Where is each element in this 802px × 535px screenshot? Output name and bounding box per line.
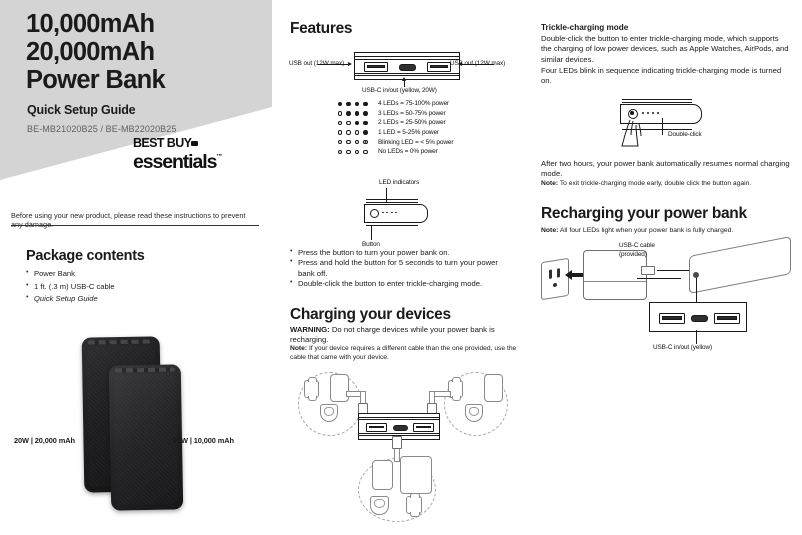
led-row bbox=[382, 212, 397, 214]
shell-line bbox=[622, 99, 692, 100]
strip-rail bbox=[359, 433, 439, 434]
usb-a-port-left bbox=[364, 62, 388, 72]
note-label: Note: bbox=[541, 180, 558, 187]
led-legend: 4 LEDs = 75-100% power 3 LEDs = 50-75% p… bbox=[338, 99, 453, 157]
arrow-left-icon bbox=[565, 270, 572, 280]
trademark-symbol: ™ bbox=[216, 154, 221, 160]
recharging-heading: Recharging your power bank bbox=[541, 205, 747, 223]
list-item: Quick Setup Guide bbox=[26, 293, 226, 305]
usb-c-plug-icon bbox=[392, 436, 402, 449]
warning-label: WARNING: bbox=[290, 325, 330, 334]
list-item: Double-click the button to enter trickle… bbox=[290, 279, 514, 289]
surface-texture bbox=[114, 373, 178, 504]
led-dots bbox=[338, 111, 378, 115]
strip-rail bbox=[355, 56, 459, 57]
outlet-slot bbox=[549, 269, 552, 278]
usb-c-plug-icon bbox=[641, 266, 655, 275]
features-heading: Features bbox=[290, 20, 352, 38]
trickle-paragraph-2: Four LEDs blink in sequence indicating t… bbox=[541, 66, 791, 87]
trickle-charging-heading: Trickle-charging mode bbox=[541, 23, 628, 32]
led-legend-text: 1 LED = 5-25% power bbox=[378, 129, 439, 136]
list-item: Press and hold the button for 5 seconds … bbox=[290, 258, 514, 279]
phone-device-icon bbox=[484, 374, 503, 402]
charging-devices-heading: Charging your devices bbox=[290, 306, 451, 324]
leader-line-port-label bbox=[696, 330, 697, 344]
led-legend-row: 3 LEDs = 50-75% power bbox=[338, 109, 453, 119]
led-dots bbox=[338, 130, 378, 134]
cable-wire bbox=[637, 278, 681, 279]
led-legend-text: 3 LEDs = 50-75% power bbox=[378, 110, 446, 117]
adapter-seam bbox=[584, 281, 646, 282]
led-legend-text: 4 LEDs = 75-100% power bbox=[378, 100, 449, 107]
led-dots bbox=[338, 102, 378, 106]
label-usb-c-cable-line1: USB-C cable bbox=[619, 242, 655, 249]
power-button-icon bbox=[370, 209, 379, 218]
hand-pointer-icon bbox=[620, 118, 660, 148]
label-usb-c-inout: USB-C in/out (yellow, 20W) bbox=[362, 87, 437, 94]
divider-rule bbox=[11, 225, 259, 226]
strip-rail bbox=[355, 59, 459, 60]
usb-c-port-center bbox=[393, 425, 408, 432]
arrow-right-icon bbox=[348, 62, 352, 66]
led-legend-row: Blinking LED = < 5% power bbox=[338, 137, 453, 147]
led-legend-row: 4 LEDs = 75-100% power bbox=[338, 99, 453, 109]
strip-rail bbox=[359, 417, 439, 418]
label-usb-out-right: USB out (12W max) bbox=[450, 60, 505, 67]
ports-edge bbox=[88, 339, 154, 344]
shell-line bbox=[366, 225, 418, 226]
model-numbers: BE-MB21020B25 / BE-MB22020B25 bbox=[27, 124, 177, 134]
earbuds-device-icon bbox=[465, 404, 483, 422]
note-text: If your device requires a different cabl… bbox=[290, 345, 516, 361]
led-legend-row: 2 LEDs = 25-50% power bbox=[338, 118, 453, 128]
hero-subtitle: Quick Setup Guide bbox=[27, 103, 135, 117]
recharging-note: Note: All four LEDs light when your powe… bbox=[541, 226, 791, 235]
led-row bbox=[642, 112, 659, 114]
logo-line-essentials: essentials™ bbox=[133, 148, 263, 172]
label-usb-c-cable-line2: (provided) bbox=[619, 251, 647, 258]
strip-rail bbox=[355, 73, 459, 74]
page-title: 10,000mAh 20,000mAh Power Bank bbox=[26, 10, 276, 94]
port-strip-diagram bbox=[354, 52, 460, 80]
device-top-diagram bbox=[364, 196, 428, 226]
led-dots bbox=[338, 150, 378, 154]
charging-warning: WARNING: Do not charge devices while you… bbox=[290, 325, 522, 346]
button-instructions-list: Press the button to turn your power bank… bbox=[290, 248, 514, 290]
label-double-click: Double-click bbox=[668, 131, 702, 138]
outlet-ground bbox=[553, 283, 557, 288]
watch-device-icon bbox=[406, 496, 422, 514]
led-legend-row: No LEDs = 0% power bbox=[338, 147, 453, 157]
shell-line bbox=[366, 199, 418, 200]
note-text: All four LEDs light when your power bank… bbox=[558, 227, 733, 234]
usb-c-port-center bbox=[399, 64, 416, 71]
watch-device-icon bbox=[304, 380, 319, 398]
led-dots bbox=[338, 140, 378, 144]
led-legend-text: 2 LEDs = 25-50% power bbox=[378, 119, 446, 126]
phone-device-icon bbox=[372, 460, 393, 490]
led-dots bbox=[338, 121, 378, 125]
port-strip-diagram bbox=[649, 302, 747, 332]
list-item: Press the button to turn your power bank… bbox=[290, 248, 514, 258]
label-button: Button bbox=[362, 241, 380, 248]
tablet-device-icon bbox=[400, 456, 432, 494]
list-item: Power Bank bbox=[26, 268, 226, 280]
quick-setup-guide-page: 10,000mAh 20,000mAh Power Bank Quick Set… bbox=[0, 0, 802, 535]
trickle-exit-note: Note: To exit trickle-charging mode earl… bbox=[541, 180, 791, 189]
arrow-up-icon bbox=[402, 77, 406, 81]
usb-a-port-left bbox=[659, 313, 685, 324]
note-label: Note: bbox=[541, 227, 558, 234]
trickle-paragraph-1: Double-click the button to enter trickle… bbox=[541, 34, 791, 65]
led-legend-text: No LEDs = 0% power bbox=[378, 148, 438, 155]
led-legend-text: Blinking LED = < 5% power bbox=[378, 139, 453, 146]
outlet-slot bbox=[557, 268, 560, 277]
earbuds-device-icon bbox=[370, 496, 389, 515]
usb-a-port-left bbox=[366, 423, 387, 432]
label-usb-c-inout-yellow: USB-C in/out (yellow) bbox=[653, 344, 712, 351]
cable-wire bbox=[657, 270, 689, 271]
note-text: To exit trickle-charging mode early, dou… bbox=[558, 180, 751, 187]
strip-rail bbox=[355, 75, 459, 76]
power-bank-icon bbox=[689, 236, 791, 294]
logo-square-mark bbox=[191, 141, 198, 146]
leader-line-double-click bbox=[662, 118, 663, 135]
leader-line-button bbox=[371, 226, 372, 240]
charging-note: Note: If your device requires a differen… bbox=[290, 345, 522, 362]
product-label-20000mah: 20W | 20,000 mAh bbox=[14, 436, 75, 445]
strip-rail bbox=[359, 419, 439, 420]
led-legend-row: 1 LED = 5-25% power bbox=[338, 128, 453, 138]
package-contents-heading: Package contents bbox=[26, 248, 145, 264]
label-led-indicators: LED indicators bbox=[379, 179, 419, 186]
recharging-diagram: USB-C cable (provided) USB-C in/out (yel… bbox=[541, 244, 797, 374]
list-item: 1 ft. (.3 m) USB-C cable bbox=[26, 281, 226, 293]
before-using-notice: Before using your new product, please re… bbox=[11, 211, 259, 229]
shell-line bbox=[622, 102, 692, 103]
charging-devices-diagram bbox=[296, 372, 511, 524]
product-label-10000mah: 20W | 10,000 mAh bbox=[173, 436, 234, 445]
phone-device-icon bbox=[330, 374, 349, 402]
ports-edge bbox=[115, 367, 176, 372]
note-label: Note: bbox=[290, 345, 307, 352]
auto-resume-paragraph: After two hours, your power bank automat… bbox=[541, 159, 791, 180]
best-buy-essentials-logo: BEST BUY essentials™ bbox=[133, 137, 263, 172]
usb-a-port-right bbox=[413, 423, 434, 432]
shell-line bbox=[366, 202, 418, 203]
usb-a-port-right bbox=[427, 62, 451, 72]
usb-a-port-right bbox=[714, 313, 740, 324]
earbuds-device-icon bbox=[320, 404, 338, 422]
package-contents-list: Power Bank 1 ft. (.3 m) USB-C cable Quic… bbox=[26, 268, 226, 306]
label-usb-out-left: USB out (12W max) bbox=[289, 60, 344, 67]
usb-c-port-center bbox=[691, 315, 708, 322]
leader-line-port bbox=[696, 278, 697, 302]
